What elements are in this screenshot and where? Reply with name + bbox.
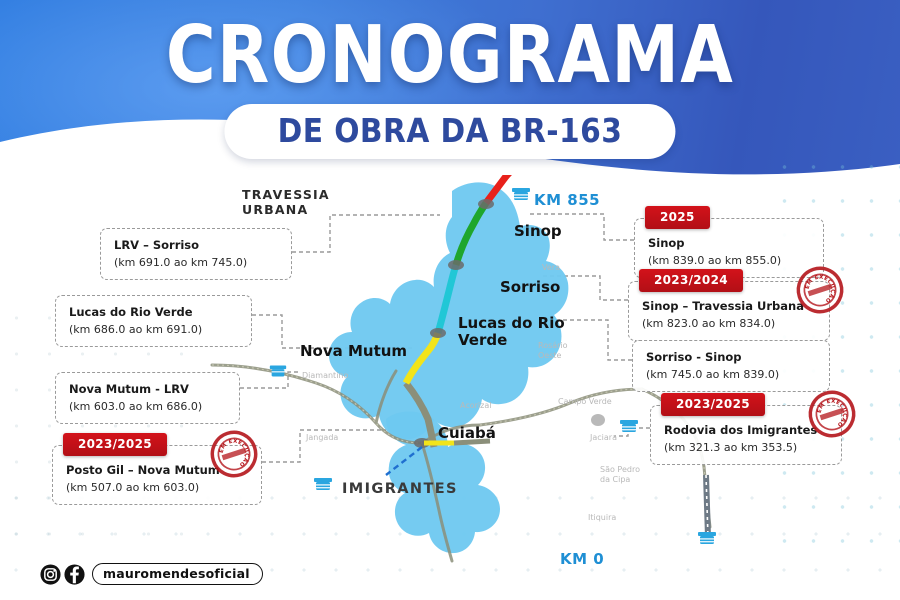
km-855-label: KM 855 <box>534 191 600 209</box>
callout-title: Rodovia dos Imigrantes <box>664 423 829 439</box>
place-label-vera: Vera <box>542 263 560 273</box>
place-label-jangada: Jangada <box>306 433 338 443</box>
callout-range: (km 839.0 ao km 855.0) <box>648 253 811 269</box>
bridge-marker-icon-imigrantes <box>312 473 334 495</box>
year-badge: 2023/2024 <box>639 269 743 292</box>
em-execucao-stamp-imigrantes: EM EXECUÇÃO <box>806 388 858 440</box>
place-label-rosario-oeste: Rosário Oeste <box>538 341 568 360</box>
place-label-sao-pedro-da-cipa: São Pedro da Cipa <box>600 465 640 484</box>
infographic-root: CRONOGRAMA DE OBRA DA BR-163 <box>0 0 900 600</box>
year-badge: 2025 <box>645 206 710 229</box>
state-shape <box>329 182 568 439</box>
callout-range: (km 603.0 ao km 686.0) <box>69 399 227 415</box>
year-badge: 2023/2025 <box>661 393 765 416</box>
callout-range: (km 823.0 ao km 834.0) <box>642 316 817 332</box>
city-label-nova-mutum: Nova Mutum <box>300 343 407 360</box>
callout-lucas-do-rio-verde[interactable]: Lucas do Rio Verde (km 686.0 ao km 691.0… <box>55 295 252 347</box>
em-execucao-stamp-posto-gil: EM EXECUÇÃO <box>208 428 260 480</box>
bridge-marker-icon-nova-mutum <box>268 361 288 381</box>
page-subtitle: DE OBRA DA BR-163 <box>278 111 623 150</box>
callout-range: (km 507.0 ao km 603.0) <box>66 480 249 496</box>
instagram-icon[interactable] <box>40 564 61 585</box>
page-title: CRONOGRAMA <box>63 14 837 97</box>
place-label-diamantino: Diamantino <box>302 371 348 381</box>
callout-range: (km 745.0 ao km 839.0) <box>646 367 817 383</box>
callout-title: Nova Mutum - LRV <box>69 382 227 398</box>
place-label-itiquira: Itiquira <box>588 513 616 523</box>
callout-nova-mutum-lrv[interactable]: Nova Mutum - LRV (km 603.0 ao km 686.0) <box>55 372 240 424</box>
callout-range: (km 686.0 ao km 691.0) <box>69 322 239 338</box>
year-badge: 2023/2025 <box>63 433 167 456</box>
km-0-label: KM 0 <box>560 550 604 568</box>
callout-range: (km 321.3 ao km 353.5) <box>664 440 829 456</box>
imigrantes-label: IMIGRANTES <box>342 481 458 497</box>
bridge-marker-icon-km855 <box>510 183 532 205</box>
subtitle-pill: DE OBRA DA BR-163 <box>224 104 675 159</box>
city-label-cuiaba: Cuiabá <box>438 425 496 442</box>
callout-title: Sinop – Travessia Urbana <box>642 299 817 315</box>
place-label-acorizal: Acorizal <box>460 401 491 411</box>
callout-title: Sinop <box>648 236 811 252</box>
em-execucao-stamp-travessia: EM EXECUÇÃO <box>794 264 846 316</box>
social-handle-bar[interactable]: mauromendesoficial <box>40 563 263 585</box>
bridge-marker-icon-rodovia-imigrantes <box>618 415 640 437</box>
travessia-urbana-label: TRAVESSIA URBANA <box>242 187 330 217</box>
callout-title: LRV – Sorriso <box>114 238 279 254</box>
social-handle-text[interactable]: mauromendesoficial <box>92 563 263 585</box>
bridge-marker-icon-km0 <box>696 527 718 549</box>
city-label-sinop: Sinop <box>514 223 562 240</box>
place-label-jaciara: Jaciara <box>590 433 617 443</box>
facebook-icon[interactable] <box>64 564 85 585</box>
callout-title: Lucas do Rio Verde <box>69 305 239 321</box>
city-label-sorriso: Sorriso <box>500 279 560 296</box>
place-label-campo-verde: Campo Verde <box>558 397 612 407</box>
callout-lrv-sorriso[interactable]: LRV – Sorriso (km 691.0 ao km 745.0) <box>100 228 292 280</box>
callout-range: (km 691.0 ao km 745.0) <box>114 255 279 271</box>
callout-sorriso-sinop[interactable]: Sorriso - Sinop (km 745.0 ao km 839.0) <box>632 340 830 392</box>
callout-title: Sorriso - Sinop <box>646 350 817 366</box>
